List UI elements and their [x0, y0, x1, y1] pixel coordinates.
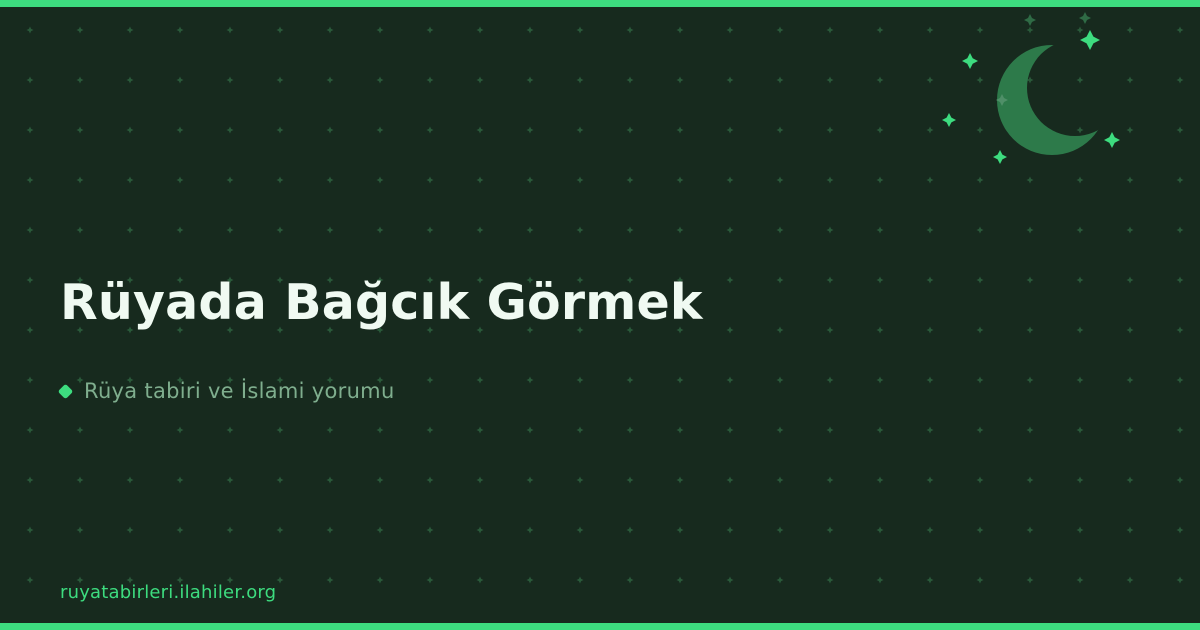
subtitle-text: Rüya tabiri ve İslami yorumu: [84, 379, 395, 403]
diamond-bullet-icon: [58, 383, 74, 399]
page-title: Rüyada Bağcık Görmek: [60, 272, 703, 334]
share-card: Rüyada Bağcık Görmek Rüya tabiri ve İsla…: [0, 0, 1200, 630]
footer-site-url: ruyatabirleri.ilahiler.org: [60, 582, 276, 603]
subtitle-row: Rüya tabiri ve İslami yorumu: [60, 379, 395, 403]
bottom-accent-stripe: [0, 623, 1200, 630]
content-block: Rüyada Bağcık Görmek Rüya tabiri ve İsla…: [60, 0, 1060, 630]
